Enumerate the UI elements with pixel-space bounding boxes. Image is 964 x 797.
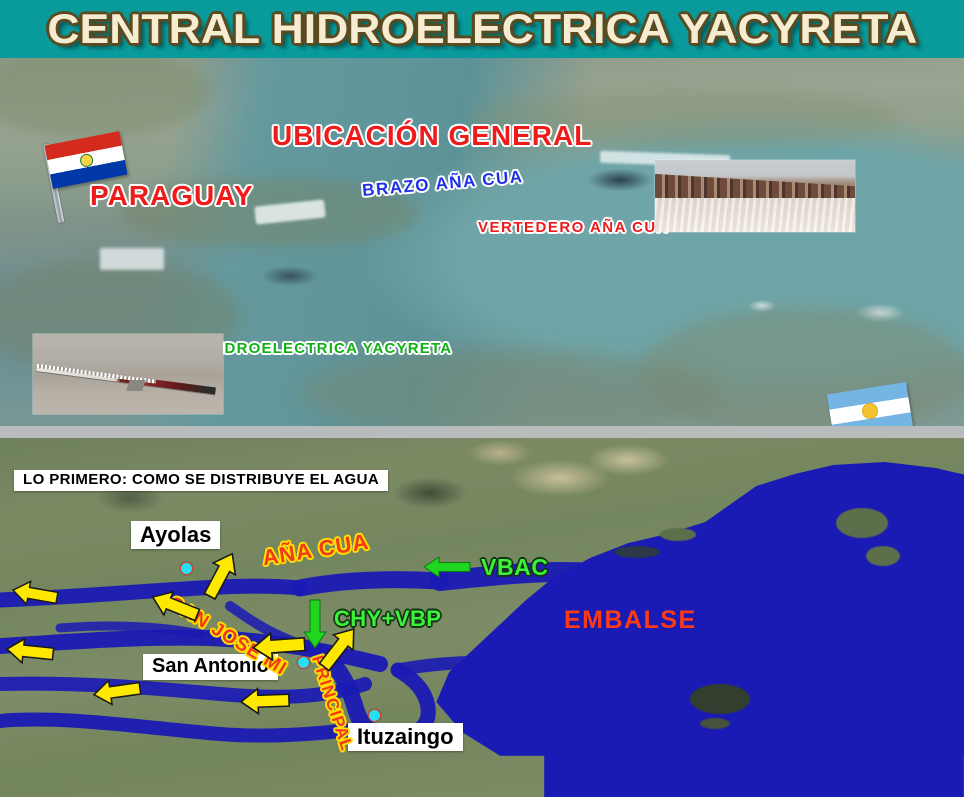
- river-network: [0, 438, 964, 797]
- paraguay-emblem-icon: [78, 152, 93, 167]
- dam-structure-highlight: [100, 248, 164, 270]
- flow-arrow-icon: [240, 686, 291, 716]
- panel-ubicacion-general: UBICACIÓN GENERAL PARAGUAY BRAZO AÑA CUA…: [0, 58, 964, 426]
- label-vertedero-ana-cua: VERTEDERO AÑA CUA: [478, 219, 669, 236]
- section-heading-distribucion: LO PRIMERO: COMO SE DISTRIBUYE EL AGUA: [14, 470, 388, 491]
- panel-divider: [0, 426, 964, 438]
- label-vbac: VBAC: [481, 554, 549, 581]
- argentina-sun-icon: [862, 403, 878, 419]
- panel-distribucion-agua: LO PRIMERO: COMO SE DISTRIBUYE EL AGUA A…: [0, 438, 964, 797]
- section-heading-ubicacion: UBICACIÓN GENERAL: [272, 120, 592, 152]
- dam-pier: [126, 380, 146, 391]
- page-title: CENTRAL HIDROELECTRICA YACYRETA: [47, 5, 917, 53]
- spillway-discharge-foam: [655, 198, 855, 232]
- gauge-station-dot: [297, 656, 310, 669]
- slide-title-banner: CENTRAL HIDROELECTRICA YACYRETA: [0, 0, 964, 58]
- slide-root: CENTRAL HIDROELECTRICA YACYRETA UBICACIÓ…: [0, 0, 964, 797]
- gauge-station-dot: [180, 562, 193, 575]
- powerhouse-photo: [33, 334, 223, 414]
- label-ayolas: Ayolas: [131, 521, 220, 549]
- gauge-station-dot: [368, 709, 381, 722]
- label-paraguay: PARAGUAY: [90, 180, 254, 212]
- ana-cua-spillway-photo: [655, 160, 855, 232]
- label-embalse: EMBALSE: [564, 606, 697, 635]
- flow-arrow-icon: [5, 636, 56, 668]
- chy-vbp-arrow-down-icon: [302, 600, 328, 648]
- label-ituzaingo: Ituzaingo: [348, 723, 463, 751]
- vbac-arrow-left-icon: [424, 554, 470, 580]
